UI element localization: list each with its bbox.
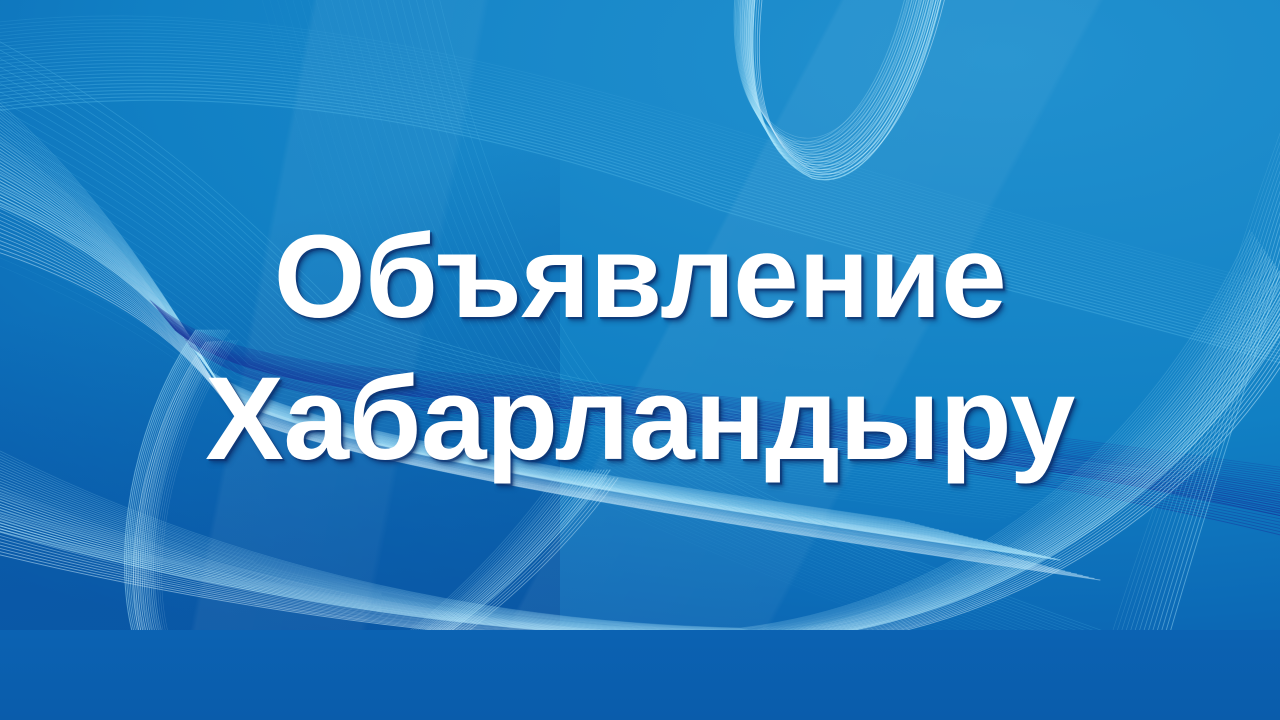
slide-title: Объявление Хабарландыру [0, 206, 1280, 490]
background-bottom-band [0, 630, 1280, 720]
title-slide: Объявление Хабарландыру [0, 0, 1280, 720]
title-line-kazakh: Хабарландыру [0, 348, 1280, 490]
title-line-russian: Объявление [0, 206, 1280, 348]
